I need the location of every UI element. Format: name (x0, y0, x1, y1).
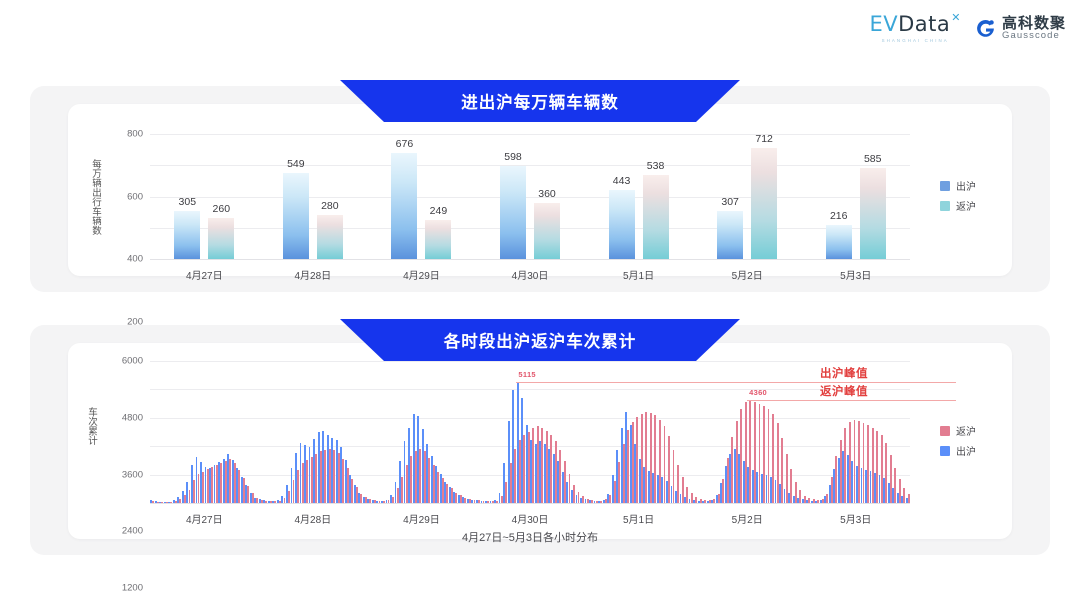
chart2-x-tick: 5月2日 (732, 511, 763, 526)
chart1-bar-value: 443 (613, 175, 631, 187)
evdata-x-icon: ✕ (951, 12, 961, 23)
chart2-title-banner: 各时段出沪返沪车次累计 (340, 319, 740, 361)
y-axis-tick: 3600 (122, 469, 143, 480)
chart1-bar-value: 360 (538, 188, 556, 200)
chart1-bar-chuhu: 549 (283, 173, 309, 259)
legend-swatch-icon (940, 446, 950, 456)
chart1-y-axis-label: 每万辆出行车辆数 (88, 159, 102, 235)
chart1-legend: 出沪返沪 (940, 178, 976, 218)
evdata-tagline: SHANGHAI CHINA (869, 38, 961, 43)
gridline: 6000 (150, 361, 910, 362)
chart1-bar-chuhu: 305 (174, 211, 200, 259)
chart2-x-tick: 4月27日 (186, 511, 223, 526)
chart2-bar-fanhu (908, 494, 910, 503)
chart1-bar-fanhu: 249 (425, 220, 451, 259)
chart1-bar-chuhu: 216 (826, 225, 852, 259)
y-axis-tick: 600 (127, 191, 143, 202)
legend-label: 返沪 (956, 198, 976, 213)
chart1-legend-item-出沪[interactable]: 出沪 (940, 178, 976, 193)
chart1-legend-item-返沪[interactable]: 返沪 (940, 198, 976, 213)
chart2-title: 各时段出沪返沪车次累计 (444, 328, 637, 352)
chart2-subcaption: 4月27日~5月3日各小时分布 (462, 529, 598, 545)
y-axis-tick: 6000 (122, 356, 143, 367)
legend-swatch-icon (940, 181, 950, 191)
evdata-ev-text: EV (869, 14, 898, 35)
gausscode-cn-name: 高科数聚 (1002, 16, 1066, 31)
gridline: 0 (150, 503, 910, 504)
chart1-title-banner: 进出沪每万辆车辆数 (340, 80, 740, 122)
evdata-logo: EVData✕ SHANGHAI CHINA (869, 14, 961, 43)
chart2-x-tick: 5月3日 (840, 511, 871, 526)
chart1-bar-value: 585 (864, 153, 882, 165)
chart1-bar-group: 307712 (715, 134, 779, 259)
chart1-bar-fanhu: 538 (643, 175, 669, 259)
chart1-bar-fanhu: 585 (860, 168, 886, 259)
y-axis-tick: 4800 (122, 412, 143, 423)
chart1-bar-value: 249 (430, 205, 448, 217)
chart1-bar-group: 216585 (824, 134, 888, 259)
chart2-x-tick: 4月28日 (295, 511, 332, 526)
brand-logo-bar: EVData✕ SHANGHAI CHINA 高科数聚 Gausscode (869, 14, 1066, 43)
chart2-x-tick: 4月29日 (403, 511, 440, 526)
evdata-data-text: Data (898, 14, 950, 35)
chart2-peak-label: 出沪峰值 (820, 365, 868, 381)
gausscode-en-name: Gausscode (1002, 31, 1066, 41)
chart2-legend-item-返沪[interactable]: 返沪 (940, 423, 976, 438)
chart2-x-tick: 5月1日 (623, 511, 654, 526)
chart2-peak-label: 返沪峰值 (820, 383, 868, 399)
legend-label: 返沪 (956, 423, 976, 438)
y-axis-tick: 2400 (122, 526, 143, 537)
chart1-bar-value: 305 (179, 196, 197, 208)
chart1-x-tick: 4月28日 (295, 267, 332, 282)
chart2-x-tick: 4月30日 (512, 511, 549, 526)
gridline: 4800 (150, 389, 910, 390)
chart1-bar-value: 538 (647, 160, 665, 172)
chart1-title: 进出沪每万辆车辆数 (461, 89, 619, 113)
chart1-bar-value: 676 (396, 138, 414, 150)
chart1-x-tick: 5月1日 (623, 267, 654, 282)
chart2-y-axis-label: 车次累计 (84, 407, 98, 445)
dashboard-page: EVData✕ SHANGHAI CHINA 高科数聚 Gausscode 进出… (0, 0, 1080, 608)
chart1-bar-value: 216 (830, 210, 848, 222)
chart1-bar-chuhu: 676 (391, 153, 417, 259)
chart1-bar-value: 307 (721, 196, 739, 208)
legend-swatch-icon (940, 201, 950, 211)
gausscode-logo: 高科数聚 Gausscode (975, 16, 1066, 41)
chart1-bar-chuhu: 307 (717, 211, 743, 259)
y-axis-tick: 800 (127, 129, 143, 140)
y-axis-tick: 1200 (122, 583, 143, 594)
chart1-x-tick: 4月29日 (403, 267, 440, 282)
chart2-peak-value: 5115 (518, 370, 535, 379)
gausscode-g-mark-icon (975, 18, 996, 39)
chart2-peak-value: 4360 (749, 388, 767, 397)
chart1-bar-group: 305260 (172, 134, 236, 259)
chart1-x-tick: 5月3日 (840, 267, 871, 282)
chart1-x-tick: 5月2日 (732, 267, 763, 282)
chart1-bar-value: 598 (504, 151, 522, 163)
chart1-bar-value: 280 (321, 200, 339, 212)
legend-label: 出沪 (956, 443, 976, 458)
evdata-wordmark: EVData✕ (869, 14, 961, 35)
chart1-bar-value: 260 (213, 203, 231, 215)
chart1-x-tick: 4月30日 (512, 267, 549, 282)
legend-label: 出沪 (956, 178, 976, 193)
chart1-bar-fanhu: 260 (208, 218, 234, 259)
chart1-bar-group: 549280 (281, 134, 345, 259)
chart1-bar-group: 443538 (607, 134, 671, 259)
y-axis-tick: 400 (127, 254, 143, 265)
legend-swatch-icon (940, 426, 950, 436)
chart1-bar-chuhu: 598 (500, 166, 526, 259)
chart1-bar-value: 712 (755, 133, 773, 145)
chart2-legend: 返沪出沪 (940, 423, 976, 463)
chart2-peak-line (747, 400, 956, 401)
chart1-bar-value: 549 (287, 158, 305, 170)
chart1-bar-fanhu: 280 (317, 215, 343, 259)
chart1-plot-area: 每万辆出行车辆数 0200400600800 30526054928067624… (150, 134, 910, 259)
chart1-bar-group: 676249 (389, 134, 453, 259)
gridline: 3600 (150, 418, 910, 419)
chart1-x-tick: 4月27日 (186, 267, 223, 282)
chart1-bar-fanhu: 712 (751, 148, 777, 259)
chart1-bar-chuhu: 443 (609, 190, 635, 259)
chart1-bar-fanhu: 360 (534, 203, 560, 259)
chart2-plot-area: 车次累计 012002400360048006000 5115出沪峰值4360返… (150, 361, 910, 503)
chart2-legend-item-出沪[interactable]: 出沪 (940, 443, 976, 458)
gridline: 0 (150, 259, 910, 260)
chart1-bar-group: 598360 (498, 134, 562, 259)
chart2-peak-line (516, 382, 956, 383)
